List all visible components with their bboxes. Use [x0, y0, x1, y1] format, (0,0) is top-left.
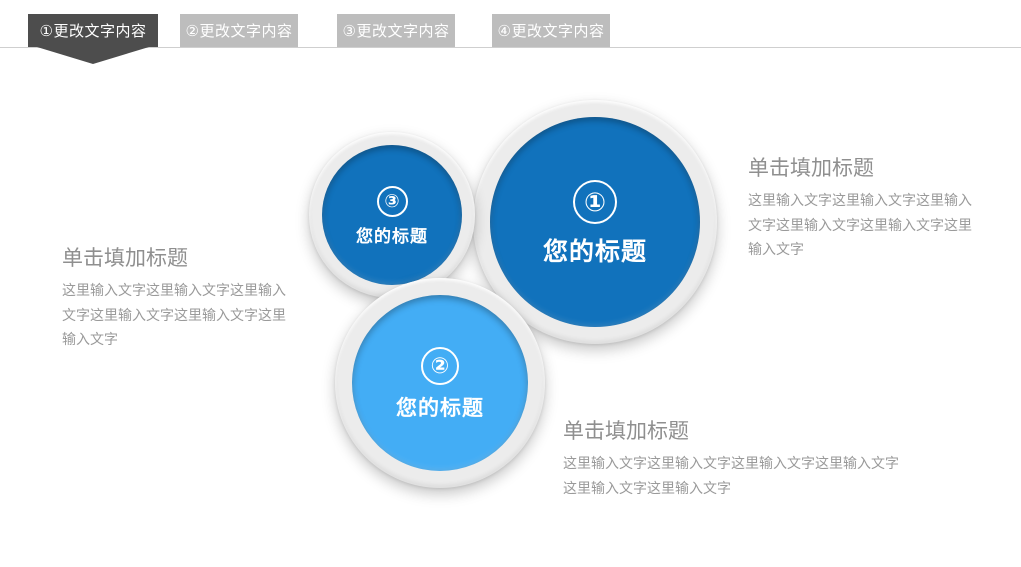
- tab-4[interactable]: ④更改文字内容: [492, 14, 610, 47]
- circle-node-1-title: 您的标题: [543, 240, 647, 265]
- caption-bottom-title: 单击填加标题: [563, 419, 908, 445]
- tab-1[interactable]: ①更改文字内容: [28, 14, 158, 47]
- caption-right-body: 这里输入文字这里输入文字这里输入文字这里输入文字这里输入文字这里输入文字: [748, 188, 980, 262]
- caption-bottom[interactable]: 单击填加标题 这里输入文字这里输入文字这里输入文字这里输入文字这里输入文字这里输…: [563, 419, 908, 500]
- caption-left-body: 这里输入文字这里输入文字这里输入文字这里输入文字这里输入文字这里输入文字: [62, 278, 294, 352]
- circle-node-1-number: ①: [573, 180, 617, 224]
- diagram-stage: ① 您的标题 ③ 您的标题 ② 您的标题 单击填加标题 这里输入文字这里输入文字…: [0, 56, 1021, 567]
- circle-node-2[interactable]: ② 您的标题: [335, 278, 545, 488]
- circle-node-1-disc: ① 您的标题: [490, 117, 700, 327]
- circle-node-3-number: ③: [377, 186, 408, 217]
- circle-node-3-title: 您的标题: [356, 228, 428, 245]
- circle-node-3[interactable]: ③ 您的标题: [309, 132, 475, 298]
- tab-2[interactable]: ②更改文字内容: [180, 14, 298, 47]
- caption-right-title: 单击填加标题: [748, 156, 980, 182]
- tab-bar: ①更改文字内容 ②更改文字内容 ③更改文字内容 ④更改文字内容: [0, 0, 1021, 56]
- caption-left[interactable]: 单击填加标题 这里输入文字这里输入文字这里输入文字这里输入文字这里输入文字这里输…: [62, 246, 294, 352]
- tab-bar-divider: [0, 47, 1021, 48]
- caption-left-title: 单击填加标题: [62, 246, 294, 272]
- circle-node-2-number: ②: [421, 347, 459, 385]
- circle-node-2-disc: ② 您的标题: [352, 295, 528, 471]
- caption-right[interactable]: 单击填加标题 这里输入文字这里输入文字这里输入文字这里输入文字这里输入文字这里输…: [748, 156, 980, 262]
- circle-node-2-title: 您的标题: [396, 398, 484, 419]
- circle-node-3-disc: ③ 您的标题: [322, 145, 462, 285]
- caption-bottom-body: 这里输入文字这里输入文字这里输入文字这里输入文字这里输入文字这里输入文字: [563, 451, 908, 500]
- tab-3[interactable]: ③更改文字内容: [337, 14, 455, 47]
